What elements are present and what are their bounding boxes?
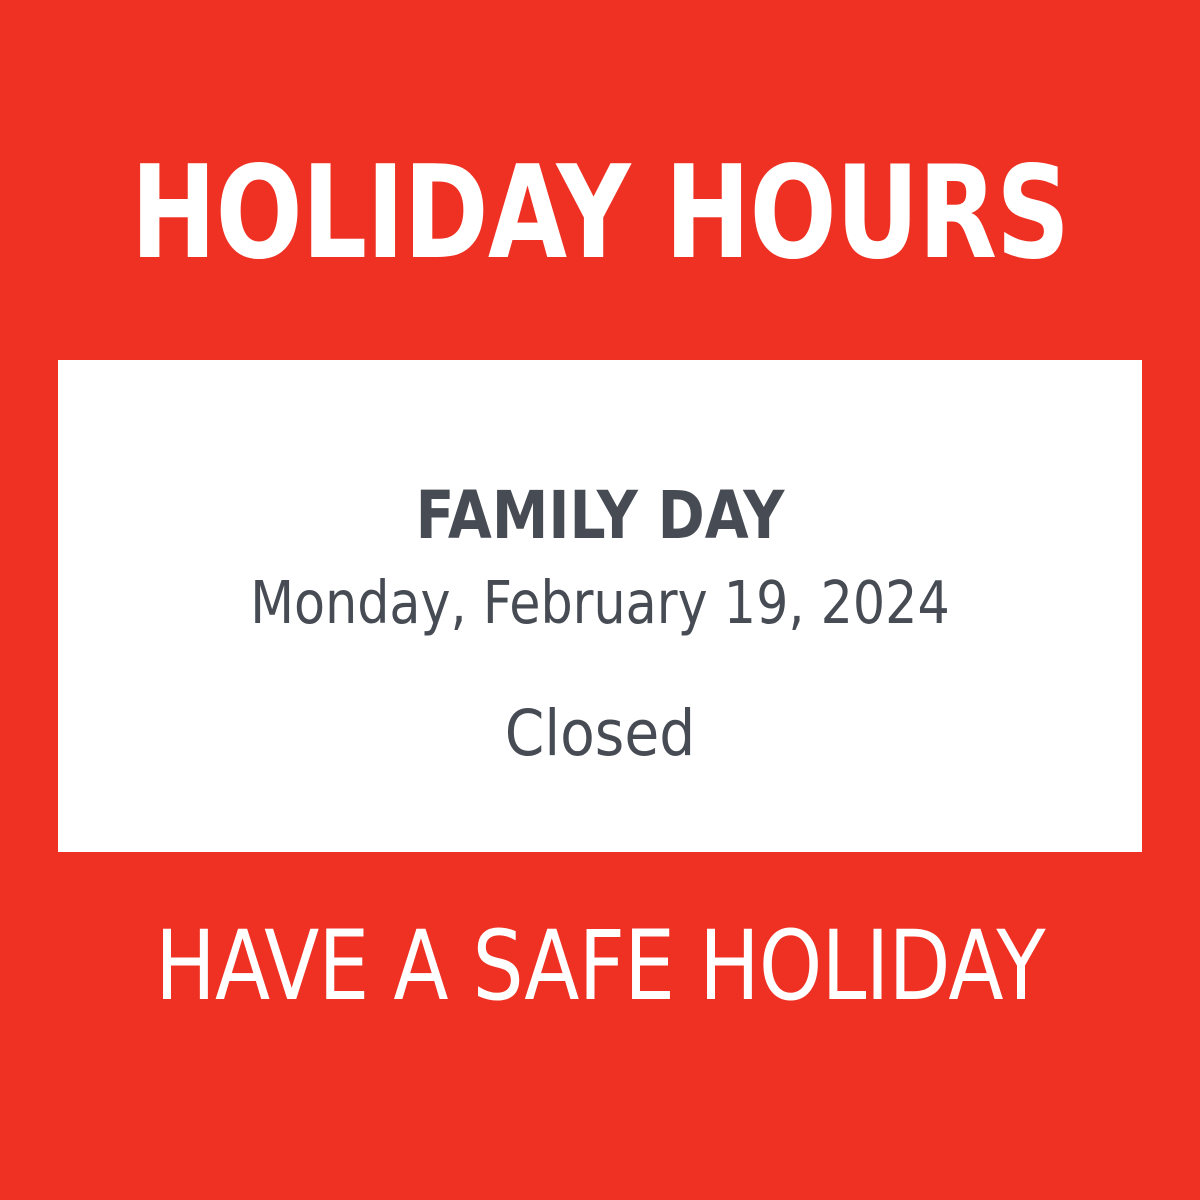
holiday-date: Monday, February 19, 2024 [134, 573, 1066, 632]
holiday-name: FAMILY DAY [134, 483, 1066, 549]
holiday-hours-poster: HOLIDAY HOURS FAMILY DAY Monday, Februar… [0, 0, 1200, 1200]
footer-message: HAVE A SAFE HOLIDAY [96, 918, 1104, 1014]
holiday-status: Closed [112, 702, 1088, 765]
holiday-info-card: FAMILY DAY Monday, February 19, 2024 Clo… [58, 360, 1142, 852]
page-title: HOLIDAY HOURS [120, 150, 1080, 278]
